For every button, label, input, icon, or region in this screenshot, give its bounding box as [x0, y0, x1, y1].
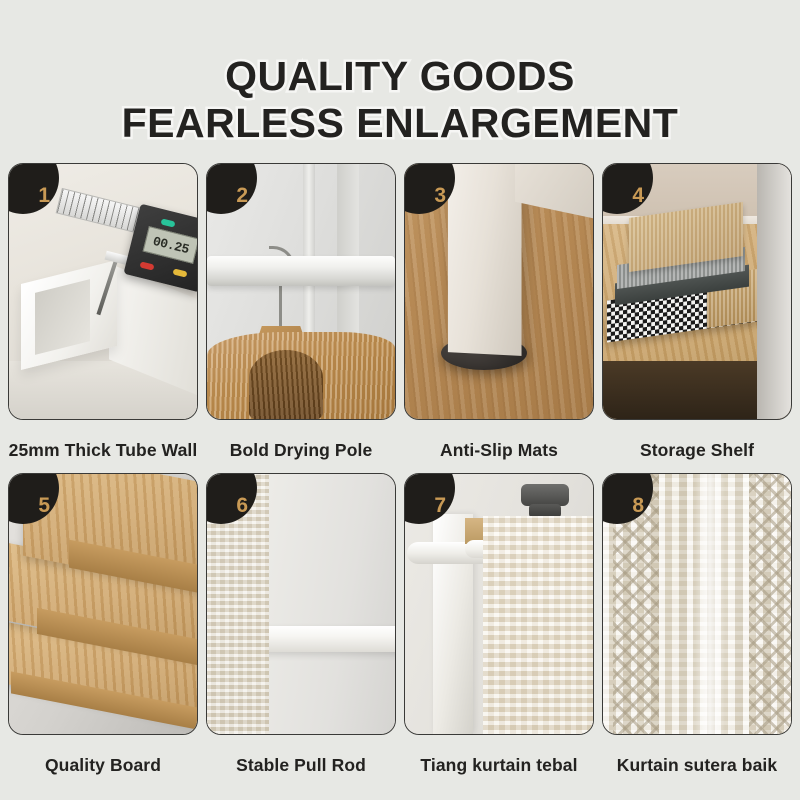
feature-caption-3: Anti-Slip Mats: [404, 420, 594, 473]
badge-number-6: 6: [236, 495, 248, 516]
feature-cell-3: 3 Anti-Slip Mats: [404, 163, 594, 473]
feature-card-2[interactable]: 2: [206, 163, 396, 420]
badge-number-4: 4: [632, 185, 644, 206]
feature-card-5[interactable]: 5: [8, 473, 198, 735]
feature-caption-2: Bold Drying Pole: [206, 420, 396, 473]
feature-card-4[interactable]: 4: [602, 163, 792, 420]
heading-line-2: FEARLESS ENLARGEMENT: [0, 103, 800, 144]
feature-cell-2: 2 Bold Drying Pole: [206, 163, 396, 473]
feature-caption-7: Tiang kurtain tebal: [404, 735, 594, 788]
feature-caption-1: 25mm Thick Tube Wall: [8, 420, 198, 473]
feature-card-1[interactable]: 00.25 1: [8, 163, 198, 420]
badge-number-2: 2: [236, 185, 248, 206]
caliper-reading: 00.25: [151, 233, 190, 256]
feature-cell-7: 7 Tiang kurtain tebal: [404, 473, 594, 788]
feature-card-6[interactable]: 6: [206, 473, 396, 735]
feature-cell-8: 8 Kurtain sutera baik: [602, 473, 792, 788]
feature-card-3[interactable]: 3: [404, 163, 594, 420]
feature-cell-1: 00.25 1 25mm Thick Tube Wall: [8, 163, 198, 473]
feature-caption-4: Storage Shelf: [602, 420, 792, 473]
badge-number-8: 8: [632, 495, 644, 516]
feature-card-7[interactable]: 7: [404, 473, 594, 735]
heading-line-1: QUALITY GOODS: [0, 56, 800, 97]
feature-caption-8: Kurtain sutera baik: [602, 735, 792, 788]
badge-number-1: 1: [38, 185, 50, 206]
feature-cell-6: 6 Stable Pull Rod: [206, 473, 396, 788]
feature-grid: 00.25 1 25mm Thick Tube Wall: [8, 163, 792, 788]
feature-cell-4: 4 Storage Shelf: [602, 163, 792, 473]
badge-number-5: 5: [38, 495, 50, 516]
feature-cell-5: 5 Quality Board: [8, 473, 198, 788]
page-heading: QUALITY GOODS FEARLESS ENLARGEMENT: [0, 0, 800, 144]
feature-caption-5: Quality Board: [8, 735, 198, 788]
feature-card-8[interactable]: 8: [602, 473, 792, 735]
badge-number-7: 7: [434, 495, 446, 516]
badge-number-3: 3: [434, 185, 446, 206]
feature-caption-6: Stable Pull Rod: [206, 735, 396, 788]
